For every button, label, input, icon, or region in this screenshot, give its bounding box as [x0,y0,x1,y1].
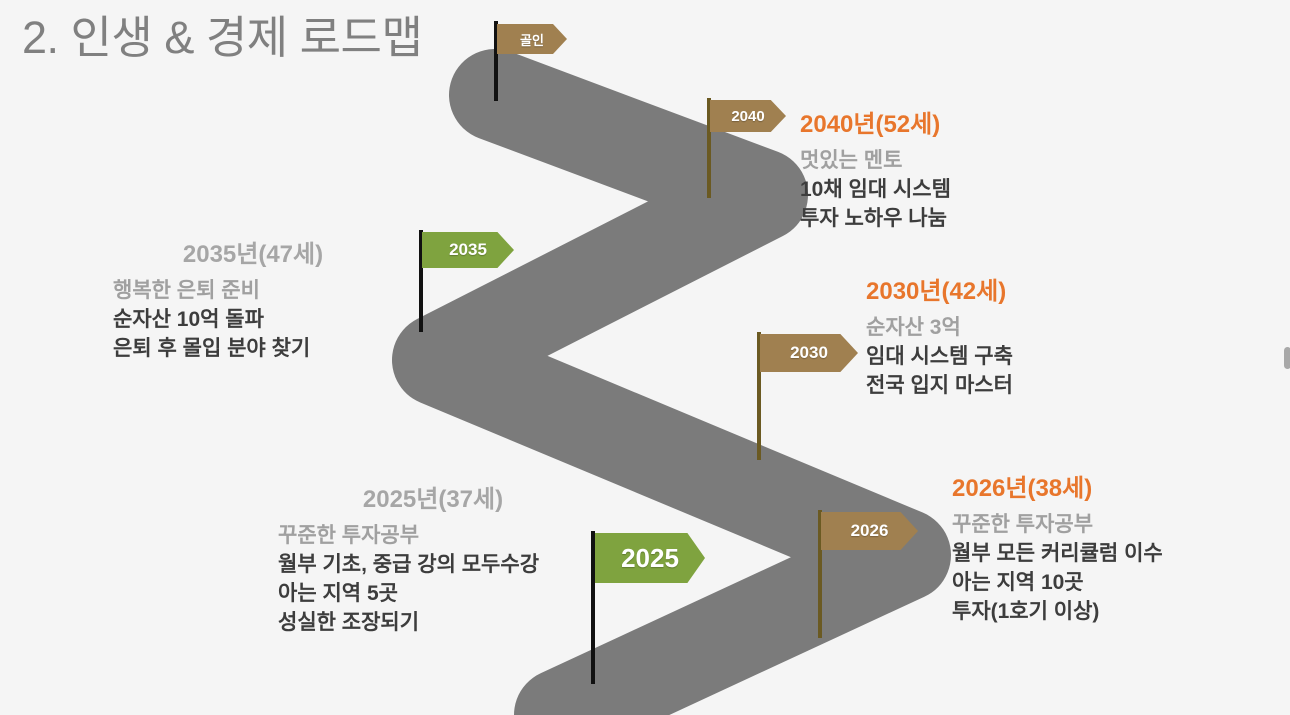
flag-label-2030: 2030 [790,343,828,363]
milestone-2040-headline: 2040년(52세) [800,110,951,140]
milestone-2025: 2025년(37세) 꾸준한 투자공부 월부 기초, 중급 강의 모두수강 아는… [278,485,588,637]
flag-pole-icon [591,531,595,684]
page-title: 2. 인생 & 경제 로드맵 [22,8,422,68]
flag-2030[interactable]: 2030 [757,332,857,462]
flag-banner-2035: 2035 [422,232,514,268]
milestone-2026: 2026년(38세) 꾸준한 투자공부 월부 모든 커리큘럼 이수 아는 지역 … [952,474,1163,626]
milestone-2026-line-3: 아는 지역 10곳 [952,568,1163,597]
flag-label-2035: 2035 [449,240,487,260]
milestone-2030-headline: 2030년(42세) [866,277,1013,307]
milestone-2026-line-2: 월부 모든 커리큘럼 이수 [952,539,1163,568]
flag-2035[interactable]: 2035 [419,230,519,340]
milestone-2035-line-1: 행복한 은퇴 준비 [113,276,393,305]
flag-2025[interactable]: 2025 [591,531,711,691]
milestone-2035: 2035년(47세) 행복한 은퇴 준비 순자산 10억 돌파 은퇴 후 몰입 … [113,240,393,363]
flag-2040[interactable]: 2040 [707,98,807,208]
milestone-2040: 2040년(52세) 멋있는 멘토 10채 임대 시스템 투자 노하우 나눔 [800,110,951,233]
milestone-2025-line-2: 월부 기초, 중급 강의 모두수강 [278,550,588,579]
milestone-2025-line-4: 성실한 조장되기 [278,608,588,637]
milestone-2035-line-2: 순자산 10억 돌파 [113,305,393,334]
scroll-indicator[interactable] [1284,347,1290,369]
milestone-2025-line-1: 꾸준한 투자공부 [278,521,588,550]
milestone-2040-line-3: 투자 노하우 나눔 [800,204,951,233]
milestone-2026-line-1: 꾸준한 투자공부 [952,510,1163,539]
roadmap-slide: 2. 인생 & 경제 로드맵 골인 2040 2035 2030 2026 [0,0,1290,715]
flag-label-2025: 2025 [621,543,679,574]
milestone-2025-headline: 2025년(37세) [278,485,588,515]
flag-banner-2026: 2026 [821,512,918,550]
milestone-2025-line-3: 아는 지역 5곳 [278,579,588,608]
milestone-2035-line-3: 은퇴 후 몰입 분야 찾기 [113,334,393,363]
flag-goal[interactable]: 골인 [494,21,584,111]
flag-banner-2040: 2040 [710,100,786,132]
milestone-2030: 2030년(42세) 순자산 3억 임대 시스템 구축 전국 입지 마스터 [866,277,1013,400]
flag-banner-goal: 골인 [497,24,567,54]
flag-banner-2025: 2025 [595,533,705,583]
milestone-2030-line-2: 임대 시스템 구축 [866,342,1013,371]
flag-label-goal: 골인 [520,30,544,49]
milestone-2030-line-3: 전국 입지 마스터 [866,371,1013,400]
milestone-2030-line-1: 순자산 3억 [866,313,1013,342]
flag-label-2040: 2040 [731,108,764,125]
flag-banner-2030: 2030 [760,334,858,372]
milestone-2026-headline: 2026년(38세) [952,474,1163,504]
milestone-2035-headline: 2035년(47세) [113,240,393,270]
milestone-2040-line-2: 10채 임대 시스템 [800,175,951,204]
flag-2026[interactable]: 2026 [818,510,918,640]
milestone-2026-line-4: 투자(1호기 이상) [952,597,1163,626]
flag-label-2026: 2026 [851,521,889,541]
milestone-2040-line-1: 멋있는 멘토 [800,146,951,175]
